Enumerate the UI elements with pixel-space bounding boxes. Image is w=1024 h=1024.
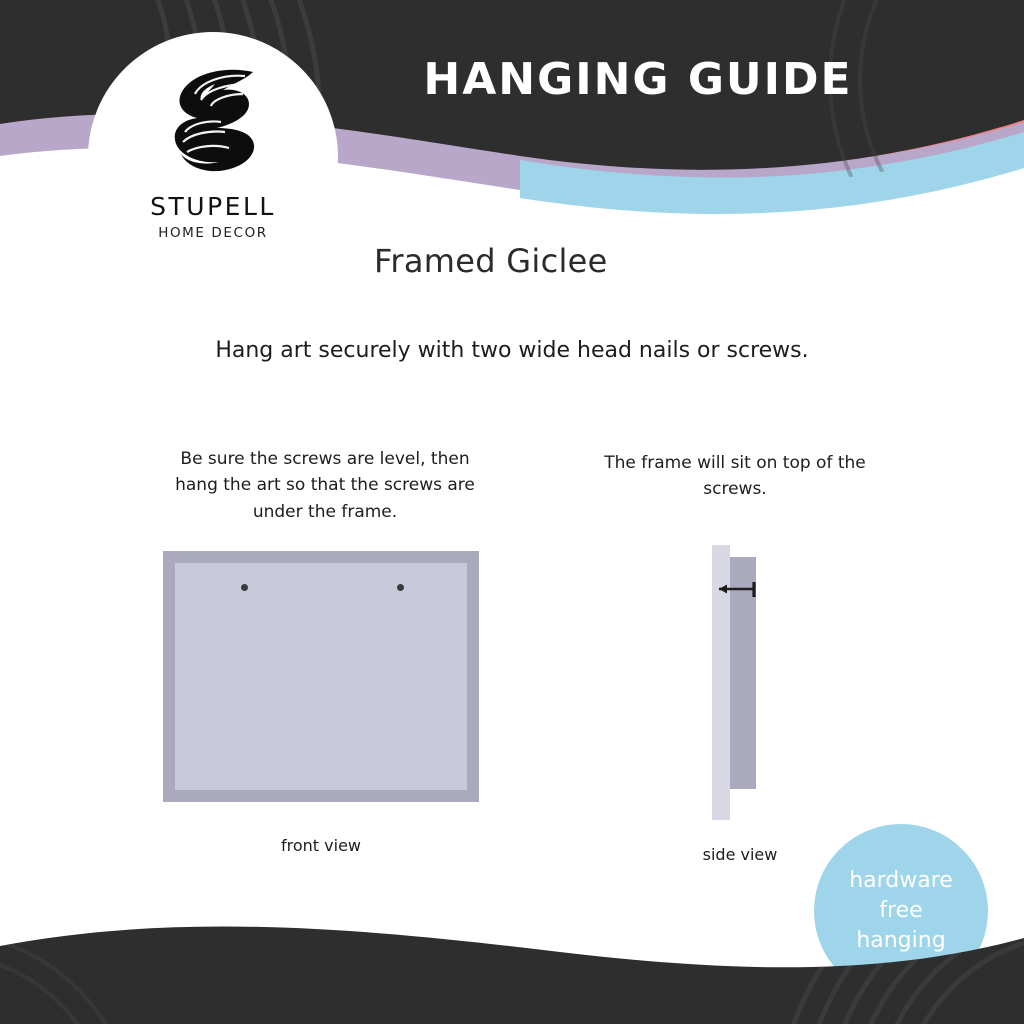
swoosh-s-logo-icon xyxy=(157,62,269,186)
screw-arrow-icon xyxy=(705,570,775,610)
brand-name: STUPELL xyxy=(150,192,276,221)
bottom-banner xyxy=(0,894,1024,1024)
badge-line-1: hardware xyxy=(849,866,953,896)
brand-tagline: HOME DECOR xyxy=(158,225,268,241)
screw-dot-right xyxy=(397,584,404,591)
side-view-caption: The frame will sit on top of the screws. xyxy=(600,450,870,503)
page-title: HANGING GUIDE xyxy=(368,54,908,105)
front-view-caption: Be sure the screws are level, then hang … xyxy=(160,446,490,525)
front-view-frame xyxy=(163,551,479,802)
main-instruction: Hang art securely with two wide head nai… xyxy=(0,338,1024,363)
screw-dot-left xyxy=(241,584,248,591)
brand-logo: STUPELL HOME DECOR xyxy=(88,32,338,282)
hanging-guide-page: HANGING GUIDE xyxy=(0,0,1024,1024)
front-view-artwork xyxy=(175,563,467,790)
product-type-heading: Framed Giclee xyxy=(374,242,608,280)
side-view-label: side view xyxy=(620,845,860,864)
front-view-label: front view xyxy=(163,836,479,855)
